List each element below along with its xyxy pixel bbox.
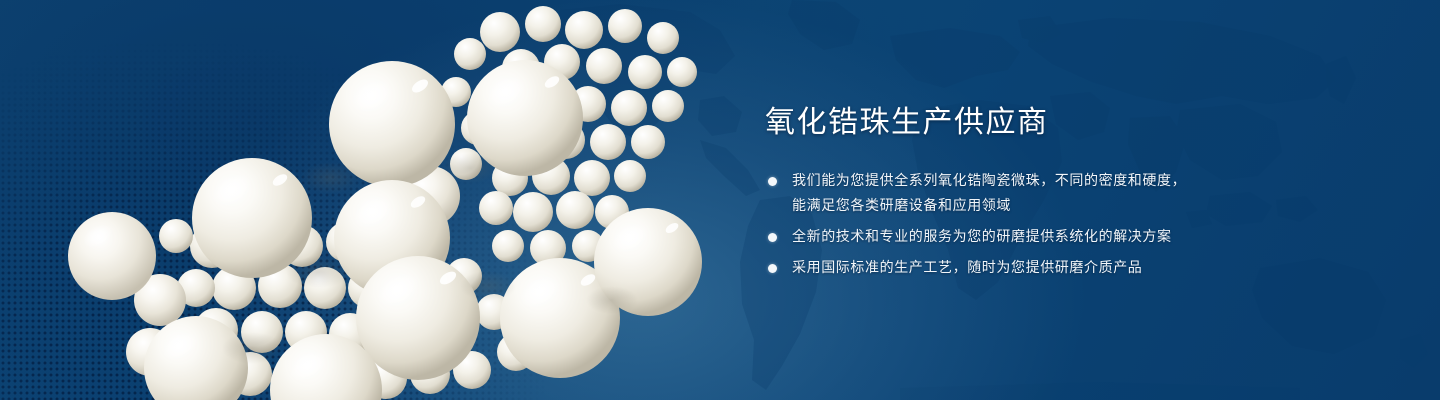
- list-item: 采用国际标准的生产工艺，随时为您提供研磨介质产品: [765, 255, 1385, 280]
- feature-text-line1: 我们能为您提供全系列氧化锆陶瓷微珠，不同的密度和硬度，: [792, 172, 1186, 188]
- feature-text-line1: 采用国际标准的生产工艺，随时为您提供研磨介质产品: [792, 259, 1142, 275]
- feature-list: 我们能为您提供全系列氧化锆陶瓷微珠，不同的密度和硬度， 能满足您各类研磨设备和应…: [765, 168, 1385, 280]
- bullet-dot-icon: [768, 177, 777, 186]
- halftone-texture: [0, 0, 760, 400]
- banner-copy: 氧化锆珠生产供应商 我们能为您提供全系列氧化锆陶瓷微珠，不同的密度和硬度， 能满…: [765, 104, 1385, 280]
- page-title: 氧化锆珠生产供应商: [765, 104, 1385, 142]
- zirconia-beads-image: [0, 0, 760, 400]
- hero-banner: 氧化锆珠生产供应商 我们能为您提供全系列氧化锆陶瓷微珠，不同的密度和硬度， 能满…: [0, 0, 1440, 400]
- list-item: 全新的技术和专业的服务为您的研磨提供系统化的解决方案: [765, 224, 1385, 249]
- list-item: 我们能为您提供全系列氧化锆陶瓷微珠，不同的密度和硬度， 能满足您各类研磨设备和应…: [765, 168, 1385, 218]
- feature-text-line1: 全新的技术和专业的服务为您的研磨提供系统化的解决方案: [792, 228, 1172, 244]
- bullet-dot-icon: [768, 264, 777, 273]
- feature-text-line2: 能满足您各类研磨设备和应用领域: [792, 193, 1385, 218]
- bullet-dot-icon: [768, 233, 777, 242]
